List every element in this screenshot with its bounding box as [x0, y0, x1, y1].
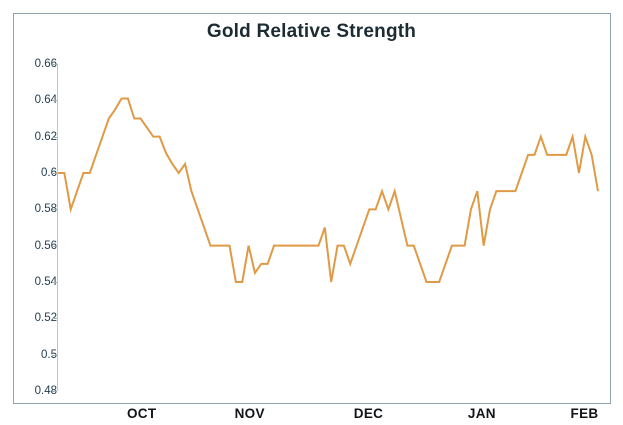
y-tick-mark: [52, 355, 57, 356]
data-series-line: [58, 64, 598, 391]
y-tick-label: 0.5: [13, 349, 57, 361]
y-tick-label: 0.64: [13, 94, 57, 106]
x-tick-label: DEC: [354, 406, 383, 421]
x-tick-label: FEB: [571, 406, 599, 421]
y-tick-mark: [52, 137, 57, 138]
y-tick-mark: [52, 100, 57, 101]
y-tick-label: 0.62: [13, 131, 57, 143]
y-tick-mark: [52, 246, 57, 247]
y-tick-label: 0.58: [13, 203, 57, 215]
y-tick-mark: [52, 282, 57, 283]
x-tick-label: NOV: [235, 406, 265, 421]
y-tick-label: 0.54: [13, 276, 57, 288]
y-tick-label: 0.52: [13, 312, 57, 324]
y-tick-label: 0.48: [13, 385, 57, 397]
y-tick-label: 0.66: [13, 58, 57, 70]
y-tick-label: 0.6: [13, 167, 57, 179]
y-tick-mark: [52, 173, 57, 174]
y-tick-mark: [52, 209, 57, 210]
y-tick-mark: [52, 64, 57, 65]
x-tick-label: OCT: [127, 406, 156, 421]
plot-area: [58, 64, 598, 391]
y-axis: 0.660.640.620.60.580.560.540.520.50.48: [13, 0, 57, 425]
x-tick-label: JAN: [468, 406, 496, 421]
y-tick-mark: [52, 391, 57, 392]
x-axis: OCTNOVDECJANFEB: [0, 404, 623, 425]
y-tick-label: 0.56: [13, 240, 57, 252]
gold-relative-strength-chart: Gold Relative Strength 0.660.640.620.60.…: [0, 0, 623, 425]
y-tick-mark: [52, 318, 57, 319]
chart-title: Gold Relative Strength: [0, 21, 623, 43]
gold-relative-strength-line: [58, 99, 598, 282]
